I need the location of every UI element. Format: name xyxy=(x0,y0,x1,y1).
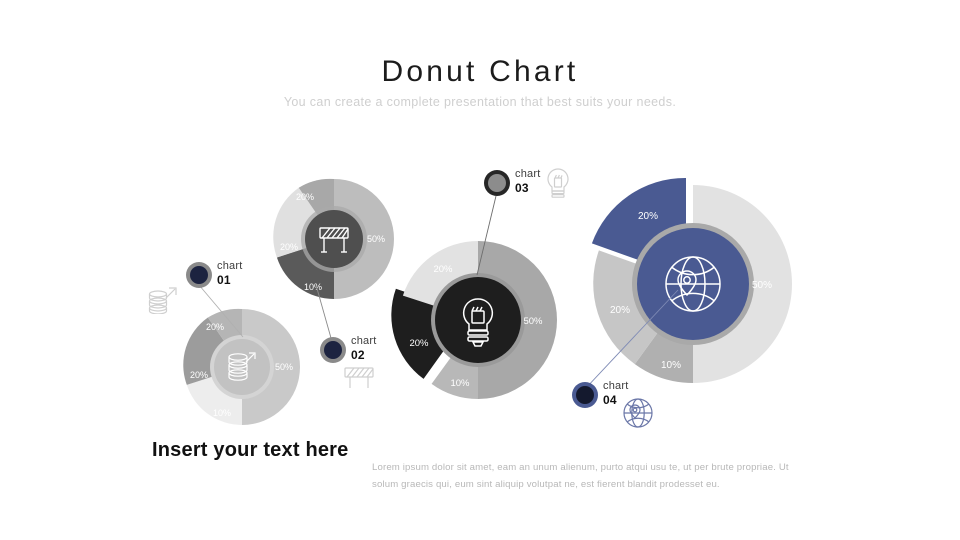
lightbulb-icon xyxy=(544,166,572,200)
callout-dot-01 xyxy=(190,266,208,284)
callout-dot-04 xyxy=(576,386,594,404)
donut-top-left[interactable]: 50% 10% 20% 20% xyxy=(273,179,394,299)
slice-label-20b: 20% xyxy=(296,192,314,202)
barrier-icon xyxy=(342,365,376,391)
callout-name-01: chart xyxy=(217,260,275,273)
slice-label-20-exploded: 20% xyxy=(409,338,429,349)
slice-label-20: 20% xyxy=(610,305,630,316)
slice-label-50: 50% xyxy=(367,234,385,244)
slice-label-20a: 20% xyxy=(280,242,298,252)
slice-label-10: 10% xyxy=(450,378,470,389)
callout-number-02: 02 xyxy=(351,348,409,362)
callout-name-02: chart xyxy=(351,335,409,348)
donut-center[interactable]: 50% 10% 20% 20% xyxy=(391,241,557,399)
slice-label-50: 50% xyxy=(275,362,293,372)
center-disc xyxy=(435,277,521,363)
slice-label-50: 50% xyxy=(752,280,772,291)
slice-label-20a: 20% xyxy=(190,370,208,380)
callout-number-01: 01 xyxy=(217,273,275,287)
callout-dot-02 xyxy=(324,341,342,359)
slice-label-20-exploded: 20% xyxy=(638,211,658,222)
callout-dot-03 xyxy=(488,174,506,192)
slice-label-20b: 20% xyxy=(206,322,224,332)
coins-arrow-icon xyxy=(145,284,179,314)
donut-right[interactable]: 50% 10% 20% 20% xyxy=(592,178,792,383)
globe-icon xyxy=(622,397,654,429)
slice-label-10: 10% xyxy=(213,408,231,418)
slice-label-10: 10% xyxy=(661,360,681,371)
footer-body: Lorem ipsum dolor sit amet, eam an unum … xyxy=(372,459,802,493)
callout-name-04: chart xyxy=(603,380,661,393)
callout-text-02: chart 02 xyxy=(351,335,409,362)
callout-text-01: chart 01 xyxy=(217,260,275,287)
center-disc xyxy=(305,210,363,268)
slice-label-10: 10% xyxy=(304,282,322,292)
slice-label-50: 50% xyxy=(523,316,543,327)
donut-bottom-left[interactable]: 50% 10% 20% 20% xyxy=(183,309,300,425)
footer-heading: Insert your text here xyxy=(152,434,362,467)
center-disc xyxy=(214,339,270,395)
slide-canvas: Donut Chart You can create a complete pr… xyxy=(0,0,960,540)
slice-label-20: 20% xyxy=(433,264,453,275)
